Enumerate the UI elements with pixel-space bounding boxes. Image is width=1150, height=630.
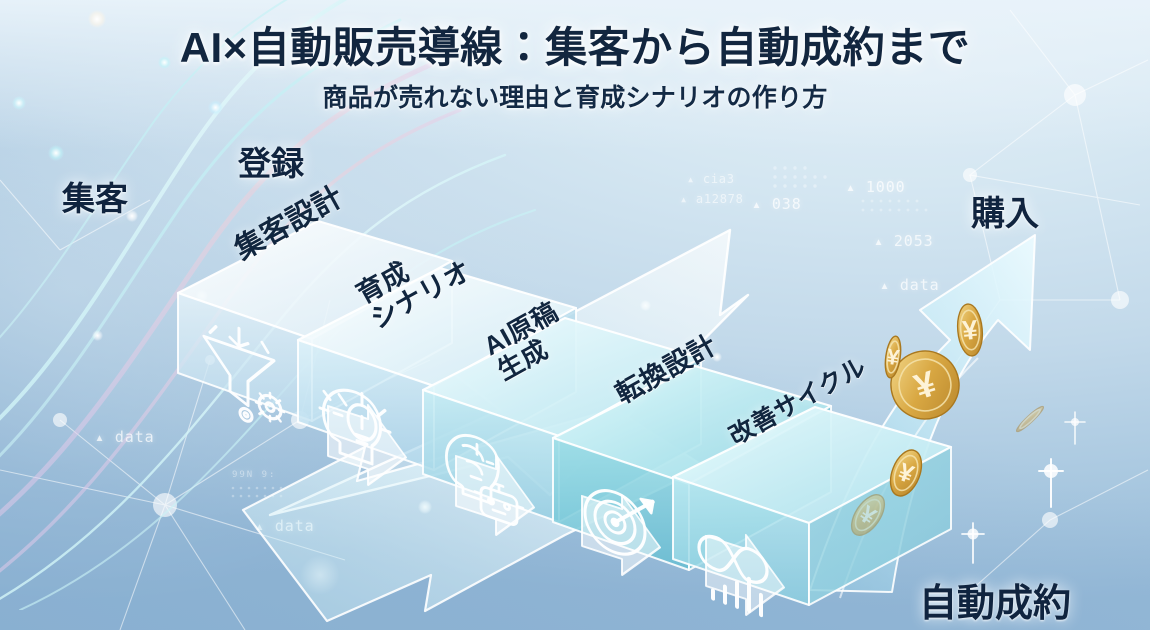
yen-coin-icon: ¥ [936,296,1003,363]
infographic-canvas: ▴ cia3▴ a12878▴ 038▴ 1000▴ 2053▴ data▴ d… [0,0,1150,630]
yen-coin-icon [997,386,1062,451]
svg-text:¥: ¥ [885,344,901,371]
yen-coin-cluster: ¥¥¥¥¥ [0,0,1150,630]
yen-coin-icon: ¥ [864,328,923,387]
